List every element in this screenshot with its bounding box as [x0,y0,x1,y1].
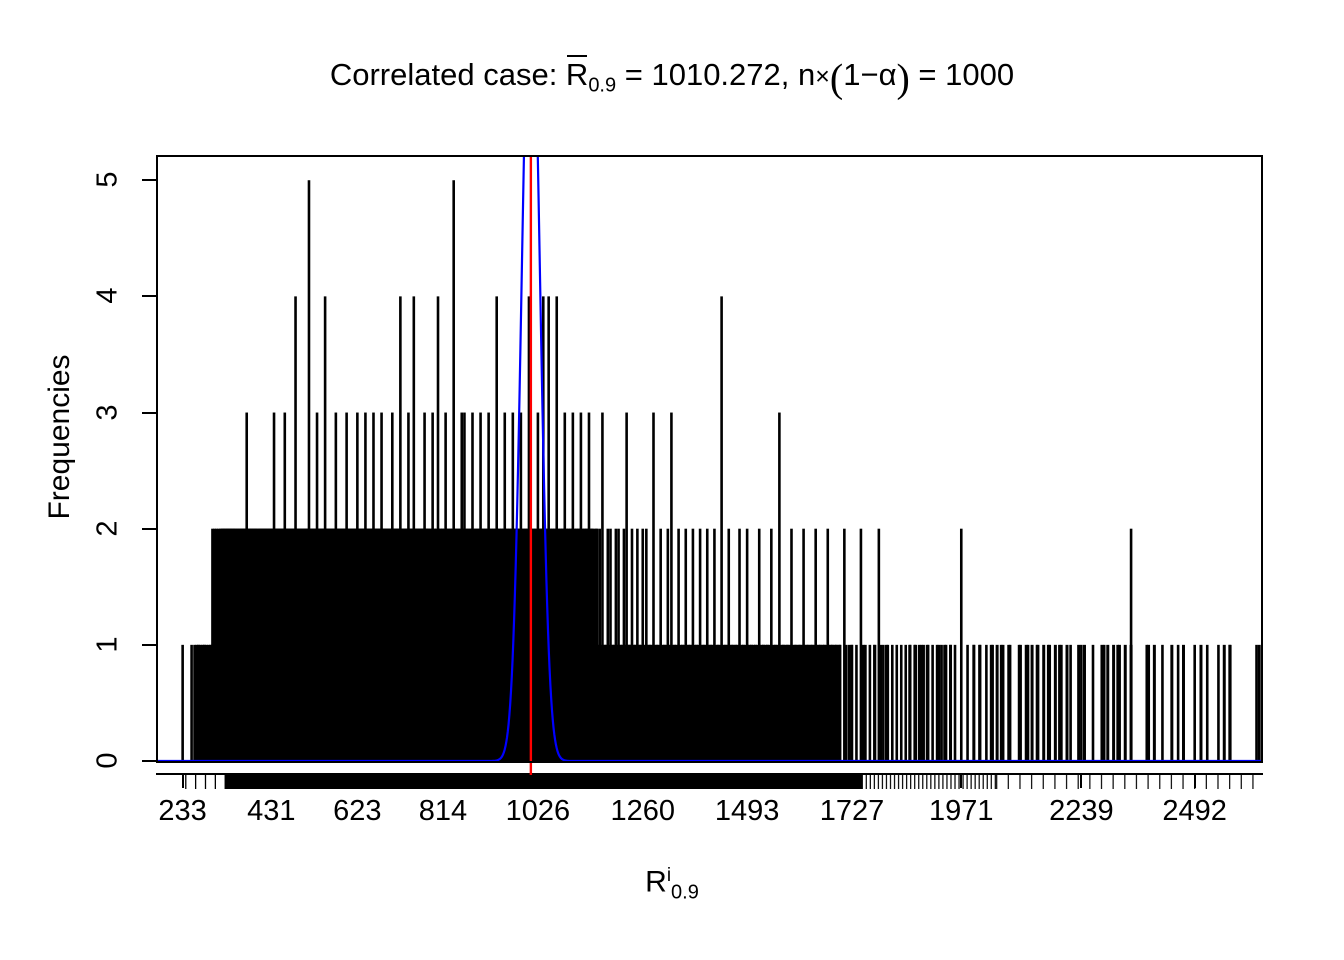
histogram-bar [1193,645,1196,761]
plot-canvas [158,157,1261,761]
histogram-bar [873,645,876,761]
histogram-bar [895,645,898,761]
histogram-bar [1177,645,1180,761]
histogram-bar [862,645,865,761]
histogram-bar [978,645,981,761]
r-bar-symbol: R [566,56,588,93]
rug-plot [156,763,1263,789]
x-axis-tick-label: 2492 [1125,795,1265,828]
y-axis-tick [142,412,156,414]
title-equals-2: = [910,57,945,92]
title-minus: − [860,57,878,92]
histogram-bar [1025,645,1028,761]
histogram-bar [855,645,858,761]
histogram-bar [943,645,946,761]
histogram-bar [1112,645,1115,761]
histogram-bar [926,645,929,761]
histogram-bar [1118,645,1121,761]
histogram-bar [931,645,934,761]
histogram-bar [1258,645,1261,761]
histogram-bar [1069,645,1072,761]
histogram-bar [879,645,882,761]
title-comma: , [781,57,798,92]
y-axis-tick [142,644,156,646]
histogram-bar [181,645,184,761]
histogram-bar [920,645,923,761]
title-n: n [798,57,815,92]
histogram-bar [1048,645,1051,761]
y-axis-tick-label: 0 [92,741,125,781]
histogram-bar [885,645,888,761]
histogram-bar [1054,645,1057,761]
plot-area [156,155,1263,763]
histogram-bar [940,645,943,761]
histogram-bar [1106,645,1109,761]
y-axis-tick-label: 4 [92,276,125,316]
histogram-bar [1161,645,1164,761]
histogram-bar [966,645,969,761]
title-alpha: α [879,57,897,92]
histogram-bar [1019,645,1022,761]
y-axis-tick [142,295,156,297]
y-axis-tick [142,760,156,762]
histogram-bars [181,180,1260,761]
histogram-bar [1092,645,1095,761]
histogram-bar [985,645,988,761]
right-paren: ) [896,55,909,100]
histogram-bar [1199,645,1202,761]
x-axis-tick-label: 1971 [891,795,1031,828]
histogram-bar [1206,645,1209,761]
histogram-bar [904,645,907,761]
x-label-subscript: 0.9 [671,881,699,903]
histogram-bar [937,645,940,761]
histogram-bar [869,645,872,761]
histogram-bar [1130,645,1133,761]
histogram-bar [954,645,957,761]
r-bar-letter: R [566,57,588,92]
title-n-value: 1000 [945,57,1014,92]
y-axis-tick-label: 1 [92,624,125,664]
title-one: 1 [843,57,860,92]
histogram-bar [908,645,911,761]
histogram-bar [972,645,975,761]
histogram-bar [996,645,999,761]
histogram-bar [1217,645,1220,761]
histogram-bar [1077,645,1080,761]
y-axis-tick-label: 3 [92,392,125,432]
title-prefix: Correlated case: [330,57,566,92]
x-axis-label: Ri0.9 [0,865,1344,904]
histogram-bar [1153,645,1156,761]
histogram-bar [900,645,903,761]
histogram-bar [1170,645,1173,761]
histogram-figure: Correlated case: R0.9 = 1010.272, n×(1−α… [0,0,1344,960]
r-bar-subscript: 0.9 [588,74,616,96]
histogram-bar [844,645,847,761]
multiply-icon: × [815,63,830,91]
y-axis-tick [142,528,156,530]
histogram-bar [882,645,885,761]
y-axis-tick-label: 5 [92,160,125,200]
histogram-bar [1255,645,1258,761]
histogram-bar [848,645,851,761]
title-mean-value: 1010.272 [651,57,780,92]
y-axis-tick-label: 2 [92,508,125,548]
y-axis-label: Frequencies [43,337,77,537]
histogram-bar [891,645,894,761]
histogram-bar [190,645,193,761]
histogram-bar [960,529,963,761]
histogram-bar [949,645,952,761]
histogram-bar [838,645,841,761]
histogram-bar [1182,645,1185,761]
histogram-bar [1007,645,1010,761]
x-label-base: R [645,865,667,898]
histogram-bar [1223,645,1226,761]
histogram-bar [1066,645,1069,761]
chart-title: Correlated case: R0.9 = 1010.272, n×(1−α… [0,56,1344,103]
histogram-bar [1042,645,1045,761]
histogram-bar [1147,645,1150,761]
histogram-bar [850,645,853,761]
histogram-bar [1080,645,1083,761]
histogram-bar [1229,645,1232,761]
histogram-bar [1083,645,1086,761]
histogram-bar [914,645,917,761]
histogram-bar [1100,645,1103,761]
histogram-bar [1001,645,1004,761]
y-axis-tick [142,179,156,181]
title-equals-1: = [616,57,651,92]
histogram-bar [990,645,993,761]
left-paren: ( [830,55,843,100]
histogram-bar [1036,645,1039,761]
histogram-bar [1031,645,1034,761]
histogram-bar [1124,645,1127,761]
histogram-bar [1060,645,1063,761]
